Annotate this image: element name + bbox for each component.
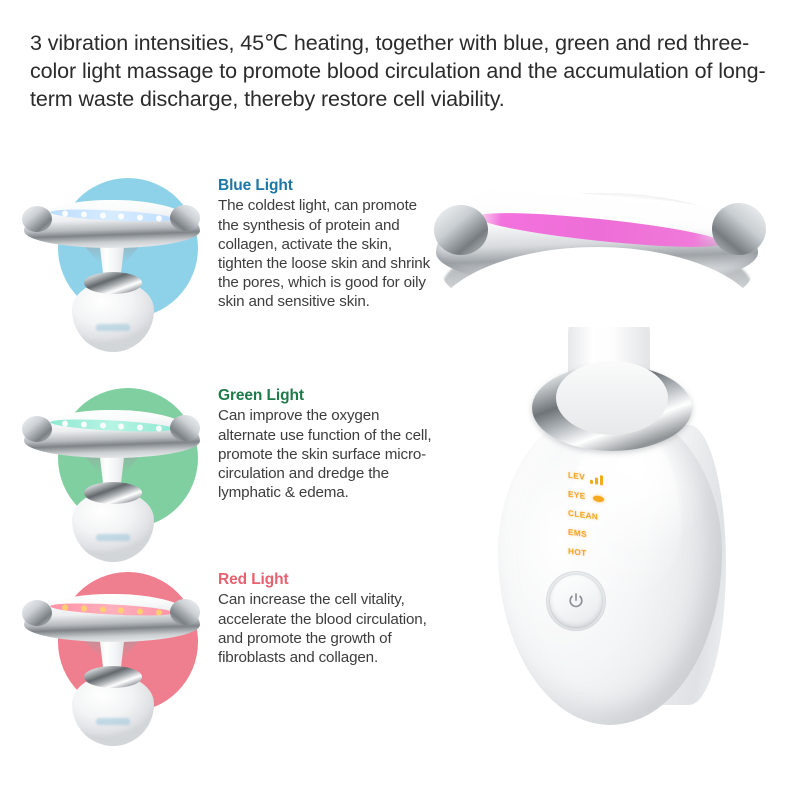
product-device-image: LEV EYE CLEAN EMS HOT [420,175,790,755]
intro-paragraph: 3 vibration intensities, 45℃ heating, to… [30,30,772,114]
feature-blue-light: Blue Light The coldest light, can promot… [22,172,442,362]
legend-label-lev: LEV [568,471,585,482]
mini-device-chrome-ring [84,666,142,688]
green-light-description: Can improve the oxygen alternate use fun… [218,406,433,502]
blue-light-text-block: Blue Light The coldest light, can promot… [218,176,433,312]
device-head-tip-right [712,203,766,255]
device-head [422,175,770,345]
mini-device-tip-left [22,600,52,626]
mini-device-blue [22,172,202,352]
eye-icon [593,495,604,503]
blue-light-title: Blue Light [218,176,433,195]
red-light-thumbnail [22,566,202,746]
device-chrome-ring-inner [556,361,668,435]
mini-device-base-marking [96,534,130,541]
level-bars-icon [590,473,603,485]
mini-device-chrome-ring [84,482,142,504]
mini-device-tip-left [22,206,52,232]
red-light-title: Red Light [218,570,433,589]
legend-label-hot: HOT [568,547,586,559]
mini-device-base-marking [96,718,130,725]
feature-green-light: Green Light Can improve the oxygen alter… [22,382,442,572]
mini-device-tip-right [170,599,200,625]
mini-device-base-marking [96,324,130,331]
mini-device-tip-right [170,415,200,441]
power-icon [566,591,586,611]
mini-device-tip-left [22,416,52,442]
red-light-description: Can increase the cell vitality, accelera… [218,590,433,667]
green-light-thumbnail [22,382,202,562]
device-control-legend: LEV EYE CLEAN EMS HOT [568,475,688,570]
red-light-text-block: Red Light Can increase the cell vitality… [218,570,433,667]
legend-label-clean: CLEAN [568,509,598,522]
mini-device-green [22,382,202,562]
mini-device-tip-right [170,205,200,231]
mini-device-red [22,566,202,746]
green-light-title: Green Light [218,386,433,405]
mini-device-chrome-ring [84,272,142,294]
blue-light-thumbnail [22,172,202,352]
power-button[interactable] [550,575,602,627]
blue-light-description: The coldest light, can promote the synth… [218,196,433,311]
legend-label-ems: EMS [568,528,587,540]
legend-label-eye: EYE [568,490,586,501]
green-light-text-block: Green Light Can improve the oxygen alter… [218,386,433,502]
device-head-tip-left [434,205,488,255]
feature-red-light: Red Light Can increase the cell vitality… [22,566,442,756]
